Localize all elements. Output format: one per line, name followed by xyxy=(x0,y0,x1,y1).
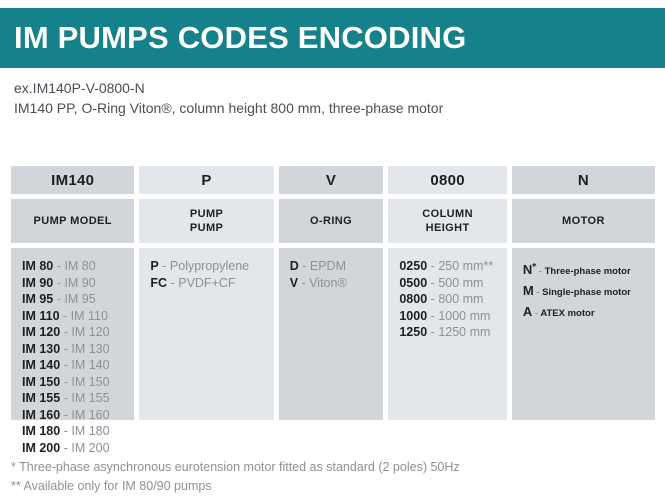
code-entry: IM 160 - IM 160 xyxy=(22,407,134,424)
column-label-line: PUMP xyxy=(190,221,223,235)
code-value: IM 90 xyxy=(64,276,95,290)
code-value: Viton® xyxy=(309,276,346,290)
column-label-line: PUMP xyxy=(190,207,223,221)
code-value: 800 mm xyxy=(438,292,483,306)
code-separator: - xyxy=(302,276,306,290)
code-value: ATEX motor xyxy=(540,308,594,319)
code-separator: - xyxy=(302,259,306,273)
code-separator-glyph: - xyxy=(536,287,539,298)
code-separator: - xyxy=(57,276,61,290)
column-code: IM140 xyxy=(11,166,134,194)
code-separator: - xyxy=(535,308,538,319)
code-key: 0250 xyxy=(399,259,427,273)
code-entry: IM 95 - IM 95 xyxy=(22,291,134,308)
column-label-line: PUMP MODEL xyxy=(34,214,112,228)
code-separator: - xyxy=(431,259,435,273)
code-separator-glyph: - xyxy=(302,259,306,273)
column-body: N* - Three-phase motorM - Single-phase m… xyxy=(512,248,655,420)
code-separator-glyph: - xyxy=(64,408,68,422)
code-separator-glyph: - xyxy=(431,259,435,273)
code-key: 1000 xyxy=(399,309,427,323)
code-value: Three-phase motor xyxy=(545,266,631,277)
code-separator-glyph: - xyxy=(63,309,67,323)
code-separator: - xyxy=(431,309,435,323)
code-entry: 1000 - 1000 mm xyxy=(399,308,506,325)
code-value: PVDF+CF xyxy=(178,276,235,290)
code-separator: - xyxy=(431,325,435,339)
code-entry: P - Polypropylene xyxy=(150,258,273,275)
code-separator-glyph: - xyxy=(64,358,68,372)
code-entry: N* - Three-phase motor xyxy=(523,258,655,281)
code-separator-glyph: - xyxy=(539,266,542,277)
code-separator-glyph: - xyxy=(64,342,68,356)
code-separator-glyph: - xyxy=(64,441,68,455)
code-separator: - xyxy=(57,259,61,273)
header-band: IM PUMPS CODES ENCODING xyxy=(0,8,665,68)
code-key: P xyxy=(150,259,158,273)
table-column: IM140PUMP MODELIM 80 - IM 80IM 90 - IM 9… xyxy=(11,166,134,420)
code-key: IM 155 xyxy=(22,391,60,405)
encoding-table: IM140PUMP MODELIM 80 - IM 80IM 90 - IM 9… xyxy=(11,166,655,420)
page-title: IM PUMPS CODES ENCODING xyxy=(0,20,466,56)
column-body: IM 80 - IM 80IM 90 - IM 90IM 95 - IM 95I… xyxy=(11,248,134,420)
column-label: O-RING xyxy=(279,199,384,243)
code-key: FC xyxy=(150,276,167,290)
code-key: IM 200 xyxy=(22,441,60,455)
code-separator-glyph: - xyxy=(57,292,61,306)
code-key: A xyxy=(523,304,532,319)
code-key: D xyxy=(290,259,299,273)
column-body: 0250 - 250 mm**0500 - 500 mm0800 - 800 m… xyxy=(388,248,506,420)
code-separator-glyph: - xyxy=(64,391,68,405)
footnotes: * Three-phase asynchronous eurotension m… xyxy=(11,458,661,496)
code-separator-glyph: - xyxy=(64,325,68,339)
code-separator: - xyxy=(171,276,175,290)
code-separator: - xyxy=(64,408,68,422)
code-separator: - xyxy=(431,276,435,290)
code-value: IM 110 xyxy=(71,309,108,323)
example-description: IM140 PP, O-Ring Viton®, column height 8… xyxy=(14,98,654,118)
code-separator: - xyxy=(64,424,68,438)
column-label-line: HEIGHT xyxy=(426,221,470,235)
code-key: IM 150 xyxy=(22,375,60,389)
code-separator-glyph: - xyxy=(431,309,435,323)
code-separator-glyph: - xyxy=(64,375,68,389)
code-separator: - xyxy=(64,325,68,339)
encoding-sheet: IM PUMPS CODES ENCODING ex.IM140P-V-0800… xyxy=(0,0,665,500)
code-key: IM 140 xyxy=(22,358,60,372)
code-key: V xyxy=(290,276,298,290)
column-body: D - EPDMV - Viton® xyxy=(279,248,384,420)
column-label-line: MOTOR xyxy=(562,214,605,228)
code-key: IM 95 xyxy=(22,292,53,306)
column-code: N xyxy=(512,166,655,194)
code-separator-glyph: - xyxy=(57,276,61,290)
code-separator: - xyxy=(64,358,68,372)
column-label-line: COLUMN xyxy=(422,207,473,221)
column-label: COLUMNHEIGHT xyxy=(388,199,506,243)
code-entry: IM 120 - IM 120 xyxy=(22,324,134,341)
code-key: 1250 xyxy=(399,325,427,339)
code-value: IM 150 xyxy=(71,375,109,389)
code-value: Single-phase motor xyxy=(542,287,631,298)
code-separator: - xyxy=(539,266,542,277)
code-separator: - xyxy=(64,342,68,356)
code-value: IM 130 xyxy=(71,342,109,356)
code-value: Polypropylene xyxy=(170,259,249,273)
code-key: IM 120 xyxy=(22,325,60,339)
code-entry: IM 80 - IM 80 xyxy=(22,258,134,275)
code-entry: IM 130 - IM 130 xyxy=(22,341,134,358)
code-value: 250 mm** xyxy=(438,259,493,273)
code-separator-glyph: - xyxy=(431,292,435,306)
code-key: 0800 xyxy=(399,292,427,306)
table-column: PPUMPPUMPP - PolypropyleneFC - PVDF+CF xyxy=(139,166,273,420)
code-value: 500 mm xyxy=(438,276,483,290)
example-block: ex.IM140P-V-0800-N IM140 PP, O-Ring Vito… xyxy=(14,78,654,118)
code-separator-glyph: - xyxy=(535,308,538,319)
code-entry: 0250 - 250 mm** xyxy=(399,258,506,275)
code-entry: IM 140 - IM 140 xyxy=(22,357,134,374)
table-column: VO-RINGD - EPDMV - Viton® xyxy=(279,166,384,420)
code-separator: - xyxy=(162,259,166,273)
code-key: M xyxy=(523,283,534,298)
code-value: IM 140 xyxy=(71,358,109,372)
code-key: IM 130 xyxy=(22,342,60,356)
example-code: ex.IM140P-V-0800-N xyxy=(14,78,654,98)
code-entry: 0800 - 800 mm xyxy=(399,291,506,308)
code-entry: IM 200 - IM 200 xyxy=(22,440,134,457)
code-entry: A - ATEX motor xyxy=(523,302,655,323)
code-entry: M - Single-phase motor xyxy=(523,281,655,302)
footnote: * Three-phase asynchronous eurotension m… xyxy=(11,458,661,477)
column-label: PUMP MODEL xyxy=(11,199,134,243)
column-label: MOTOR xyxy=(512,199,655,243)
code-separator-glyph: - xyxy=(171,276,175,290)
code-entry: IM 110 - IM 110 xyxy=(22,308,134,325)
code-entry: IM 180 - IM 180 xyxy=(22,423,134,440)
column-code: P xyxy=(139,166,273,194)
code-separator: - xyxy=(64,391,68,405)
code-separator-glyph: - xyxy=(431,325,435,339)
code-key: N xyxy=(523,262,532,277)
code-entry: V - Viton® xyxy=(290,275,384,292)
code-separator: - xyxy=(431,292,435,306)
code-value: IM 80 xyxy=(64,259,95,273)
table-column: NMOTORN* - Three-phase motorM - Single-p… xyxy=(512,166,655,420)
code-entry: FC - PVDF+CF xyxy=(150,275,273,292)
code-value: IM 120 xyxy=(71,325,109,339)
code-separator-glyph: - xyxy=(64,424,68,438)
code-value: IM 95 xyxy=(64,292,95,306)
footnote: ** Available only for IM 80/90 pumps xyxy=(11,477,661,496)
code-value: IM 200 xyxy=(71,441,109,455)
code-entry: IM 155 - IM 155 xyxy=(22,390,134,407)
code-separator-glyph: - xyxy=(431,276,435,290)
code-separator: - xyxy=(536,287,539,298)
code-key: IM 80 xyxy=(22,259,53,273)
code-value: IM 155 xyxy=(71,391,109,405)
code-separator-glyph: - xyxy=(57,259,61,273)
code-key: IM 90 xyxy=(22,276,53,290)
code-entry: D - EPDM xyxy=(290,258,384,275)
column-body: P - PolypropyleneFC - PVDF+CF xyxy=(139,248,273,420)
code-value: 1250 mm xyxy=(438,325,490,339)
code-separator: - xyxy=(64,375,68,389)
code-separator: - xyxy=(63,309,67,323)
code-entry: 0500 - 500 mm xyxy=(399,275,506,292)
code-key: IM 110 xyxy=(22,309,60,323)
code-separator-glyph: - xyxy=(302,276,306,290)
code-key: IM 180 xyxy=(22,424,60,438)
table-column: 0800COLUMNHEIGHT0250 - 250 mm**0500 - 50… xyxy=(388,166,506,420)
column-code: V xyxy=(279,166,384,194)
column-label-line: O-RING xyxy=(310,214,352,228)
code-separator-glyph: - xyxy=(162,259,166,273)
code-value: IM 160 xyxy=(71,408,109,422)
column-label: PUMPPUMP xyxy=(139,199,273,243)
code-separator: - xyxy=(64,441,68,455)
code-separator: - xyxy=(57,292,61,306)
code-entry: IM 90 - IM 90 xyxy=(22,275,134,292)
code-key: 0500 xyxy=(399,276,427,290)
code-key-asterisk: * xyxy=(532,262,536,273)
code-value: 1000 mm xyxy=(438,309,490,323)
code-value: EPDM xyxy=(310,259,346,273)
code-value: IM 180 xyxy=(71,424,109,438)
column-code: 0800 xyxy=(388,166,506,194)
code-entry: IM 150 - IM 150 xyxy=(22,374,134,391)
code-entry: 1250 - 1250 mm xyxy=(399,324,506,341)
code-key: IM 160 xyxy=(22,408,60,422)
